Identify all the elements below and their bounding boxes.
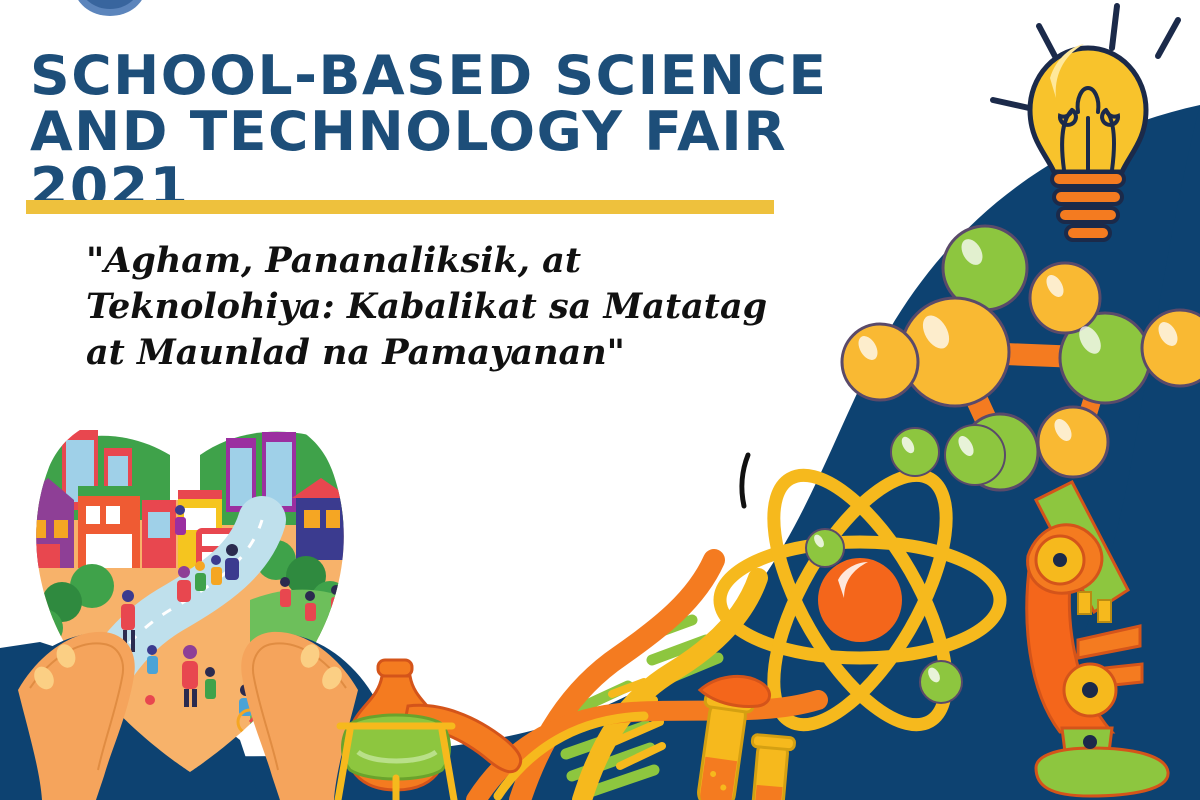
poster-canvas: SCHOOL-BASED SCIENCE AND TECHNOLOGY FAIR… bbox=[0, 0, 1200, 800]
school-seal-icon bbox=[0, 0, 1200, 800]
